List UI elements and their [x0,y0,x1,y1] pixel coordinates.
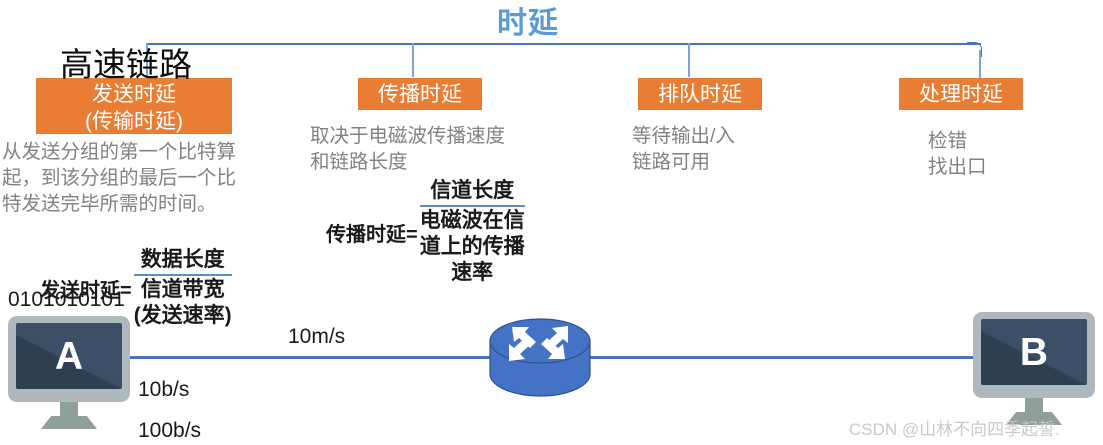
formula-propagation-delay: 传播时延= 信道长度 电磁波在信 道上的传播 速率 [326,178,525,286]
formula-numerator: 数据长度 [141,247,225,273]
monitor-stand-neck-a [60,402,78,416]
formula-fraction: 数据长度 信道带宽 (发送速率) [134,247,232,329]
formula-fraction-bar [134,274,232,276]
router-icon [485,311,595,406]
branch-box-line-1: 排队时延 [648,81,752,108]
link-a-to-router [129,356,505,359]
connector-drop-queuing [688,43,690,77]
formula-denominator-line-3: 速率 [451,260,493,286]
formula-denominator-line-2: 道上的传播 [420,234,525,260]
page-title: 时延 [497,0,559,42]
branch-box-line-1: 处理时延 [909,81,1013,108]
monitor-stand-base-a [41,416,97,429]
formula-numerator: 信道长度 [430,178,514,204]
connector-drop-processing [979,50,981,78]
high-speed-link-heading: 高速链路 [60,38,192,86]
desc-line: 起，到该分组的最后一个比 [2,165,236,191]
monitor-screen-b: B [981,319,1087,385]
label-rate-b: 100b/s [138,419,201,443]
branch-desc-sending-delay: 从发送分组的第一个比特算 起，到该分组的最后一个比 特发送完毕所需的时间。 [2,139,236,217]
desc-line: 链路可用 [632,149,735,175]
branch-box-queuing-delay[interactable]: 排队时延 [638,78,762,110]
monitor-stand-neck-b [1025,398,1043,412]
slide-canvas: 时延 发送时延 (传输时延) 高速链路 从发送分组的第一个比特算 起，到该分组的… [0,0,1103,445]
connector-horizontal-bus [146,43,981,45]
formula-fraction-bar [420,205,525,207]
bitstream-label: 0101010101 [8,288,125,312]
desc-line: 取决于电磁波传播速度 [310,123,505,149]
branch-desc-propagation-delay: 取决于电磁波传播速度 和链路长度 [310,123,505,175]
desc-line: 找出口 [928,154,987,180]
monitor-screen-a: A [16,323,122,389]
branch-box-line-2: (传输时延) [46,108,222,135]
desc-line: 等待输出/入 [632,123,735,149]
host-b-label: B [981,333,1087,372]
desc-line: 特发送完毕所需的时间。 [2,191,236,217]
watermark: CSDN @山林不向四季起誓. [849,415,1060,440]
formula-denominator-line-1: 电磁波在信 [420,208,525,234]
formula-denominator-line-1: 信道带宽 [141,277,225,303]
branch-box-sending-delay[interactable]: 发送时延 (传输时延) [36,78,232,134]
label-rate-a: 10b/s [138,378,189,402]
connector-drop-propagation [412,43,414,77]
label-propagation-speed: 10m/s [288,325,345,349]
desc-line: 从发送分组的第一个比特算 [2,139,236,165]
branch-desc-processing-delay: 检错 找出口 [928,128,987,180]
desc-line: 和链路长度 [310,149,505,175]
formula-label: 传播时延= [326,218,420,247]
branch-box-line-1: 传播时延 [368,81,472,108]
branch-box-processing-delay[interactable]: 处理时延 [899,78,1023,110]
branch-box-propagation-delay[interactable]: 传播时延 [358,78,482,110]
desc-line: 检错 [928,128,987,154]
router[interactable] [485,311,595,406]
link-router-to-b [574,356,979,359]
branch-desc-queuing-delay: 等待输出/入 链路可用 [632,123,735,175]
formula-fraction: 信道长度 电磁波在信 道上的传播 速率 [420,178,525,286]
formula-denominator-line-2: (发送速率) [134,303,232,329]
host-a-label: A [16,337,122,376]
